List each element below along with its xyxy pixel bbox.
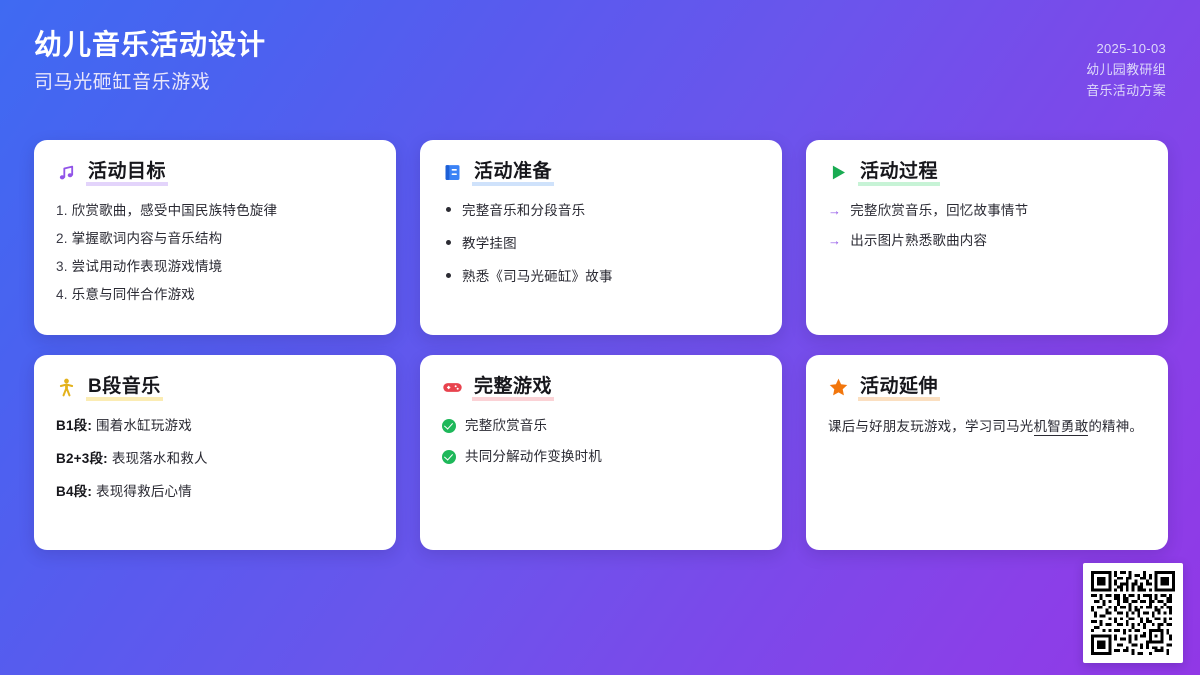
header-left: 幼儿音乐活动设计 司马光砸缸音乐游戏 — [34, 26, 266, 98]
list-item: 教学挂图 — [446, 234, 760, 253]
list-item: →完整欣赏音乐，回忆故事情节 — [828, 201, 1146, 220]
list-item: 完整音乐和分段音乐 — [446, 201, 760, 220]
list-item: 熟悉《司马光砸缸》故事 — [446, 267, 760, 286]
bullet-dot — [446, 273, 451, 278]
check-circle-icon — [442, 419, 456, 433]
card-title: 活动准备 — [472, 159, 554, 186]
page-header: 幼儿音乐活动设计 司马光砸缸音乐游戏 2025-10-03 幼儿园教研组 音乐活… — [0, 0, 1200, 128]
item-number: 4. — [56, 285, 68, 304]
card-title: 活动延伸 — [858, 374, 940, 401]
card-section-b-music[interactable]: B段音乐 B1段: 围着水缸玩游戏 B2+3段: 表现落水和救人 B4段: 表现… — [34, 355, 396, 550]
card-grid: 活动目标 1.欣赏歌曲，感受中国民族特色旋律 2.掌握歌词内容与音乐结构 3.尝… — [34, 140, 1166, 550]
item-text: 完整音乐和分段音乐 — [462, 201, 585, 220]
paragraph-after: 的精神。 — [1088, 419, 1143, 434]
card-header: 活动目标 — [56, 159, 374, 186]
meta-date: 2025-10-03 — [1097, 38, 1167, 59]
card-activity-goals[interactable]: 活动目标 1.欣赏歌曲，感受中国民族特色旋律 2.掌握歌词内容与音乐结构 3.尝… — [34, 140, 396, 335]
item-text: 围着水缸玩游戏 — [96, 418, 192, 433]
check-circle-icon — [442, 450, 456, 464]
item-text: 教学挂图 — [462, 234, 517, 253]
list-item: 共同分解动作变换时机 — [442, 447, 760, 466]
card-activity-preparation[interactable]: 活动准备 完整音乐和分段音乐 教学挂图 熟悉《司马光砸缸》故事 — [420, 140, 782, 335]
meta-doc-type: 音乐活动方案 — [1086, 80, 1166, 101]
list-item: 4.乐意与同伴合作游戏 — [56, 285, 374, 304]
item-label: B1段: — [56, 418, 92, 433]
item-text: 共同分解动作变换时机 — [465, 447, 602, 466]
person-raised-arms-icon — [56, 377, 77, 398]
item-text: 完整欣赏音乐，回忆故事情节 — [850, 201, 1028, 220]
item-text: 尝试用动作表现游戏情境 — [72, 257, 223, 276]
goals-list: 1.欣赏歌曲，感受中国民族特色旋律 2.掌握歌词内容与音乐结构 3.尝试用动作表… — [56, 201, 374, 304]
arrow-icon: → — [828, 201, 841, 220]
arrow-icon: → — [828, 231, 841, 250]
card-title: B段音乐 — [86, 374, 163, 401]
bullet-dot — [446, 207, 451, 212]
item-number: 3. — [56, 257, 68, 276]
card-title: 活动目标 — [86, 159, 168, 186]
list-item: 1.欣赏歌曲，感受中国民族特色旋律 — [56, 201, 374, 220]
item-text: 表现得救后心情 — [96, 484, 192, 499]
list-item: 完整欣赏音乐 — [442, 416, 760, 435]
gamepad-icon — [442, 377, 463, 398]
item-text: 出示图片熟悉歌曲内容 — [850, 231, 987, 250]
card-header: 活动过程 — [828, 159, 1146, 186]
process-list: →完整欣赏音乐，回忆故事情节 →出示图片熟悉歌曲内容 — [828, 201, 1146, 250]
page-subtitle: 司马光砸缸音乐游戏 — [34, 68, 266, 98]
card-title: 完整游戏 — [472, 374, 554, 401]
full-game-list: 完整欣赏音乐 共同分解动作变换时机 — [442, 416, 760, 466]
card-activity-extension[interactable]: 活动延伸 课后与好朋友玩游戏，学习司马光机智勇敢的精神。 — [806, 355, 1168, 550]
qr-code[interactable] — [1083, 563, 1183, 663]
list-item: →出示图片熟悉歌曲内容 — [828, 231, 1146, 250]
book-icon — [442, 162, 463, 183]
item-text: 熟悉《司马光砸缸》故事 — [462, 267, 613, 286]
play-triangle-icon — [828, 162, 849, 183]
page-title: 幼儿音乐活动设计 — [34, 26, 266, 64]
card-activity-process[interactable]: 活动过程 →完整欣赏音乐，回忆故事情节 →出示图片熟悉歌曲内容 — [806, 140, 1168, 335]
b-section-list: B1段: 围着水缸玩游戏 B2+3段: 表现落水和救人 B4段: 表现得救后心情 — [56, 416, 374, 501]
item-text: 表现落水和救人 — [112, 451, 208, 466]
bullet-dot — [446, 240, 451, 245]
item-label: B2+3段: — [56, 451, 108, 466]
card-header: 完整游戏 — [442, 374, 760, 401]
item-label: B4段: — [56, 484, 92, 499]
item-text: 欣赏歌曲，感受中国民族特色旋律 — [72, 201, 278, 220]
list-item: B1段: 围着水缸玩游戏 — [56, 416, 374, 435]
list-item: 2.掌握歌词内容与音乐结构 — [56, 229, 374, 248]
card-header: B段音乐 — [56, 374, 374, 401]
item-text: 完整欣赏音乐 — [465, 416, 547, 435]
card-header: 活动准备 — [442, 159, 760, 186]
item-text: 掌握歌词内容与音乐结构 — [72, 229, 223, 248]
list-item: B4段: 表现得救后心情 — [56, 482, 374, 501]
card-header: 活动延伸 — [828, 374, 1146, 401]
qr-code-image — [1091, 571, 1175, 655]
card-title: 活动过程 — [858, 159, 940, 186]
card-full-game[interactable]: 完整游戏 完整欣赏音乐 共同分解动作变换时机 — [420, 355, 782, 550]
preparation-list: 完整音乐和分段音乐 教学挂图 熟悉《司马光砸缸》故事 — [442, 201, 760, 286]
star-icon — [828, 377, 849, 398]
paragraph-emphasis: 机智勇敢 — [1034, 419, 1089, 436]
meta-org: 幼儿园教研组 — [1086, 59, 1166, 80]
item-text: 乐意与同伴合作游戏 — [72, 285, 195, 304]
paragraph-before: 课后与好朋友玩游戏，学习司马光 — [828, 419, 1034, 434]
music-note-icon — [56, 162, 77, 183]
header-meta: 2025-10-03 幼儿园教研组 音乐活动方案 — [1086, 26, 1166, 101]
item-number: 1. — [56, 201, 68, 220]
list-item: 3.尝试用动作表现游戏情境 — [56, 257, 374, 276]
list-item: B2+3段: 表现落水和救人 — [56, 449, 374, 468]
item-number: 2. — [56, 229, 68, 248]
extension-paragraph: 课后与好朋友玩游戏，学习司马光机智勇敢的精神。 — [828, 416, 1146, 437]
